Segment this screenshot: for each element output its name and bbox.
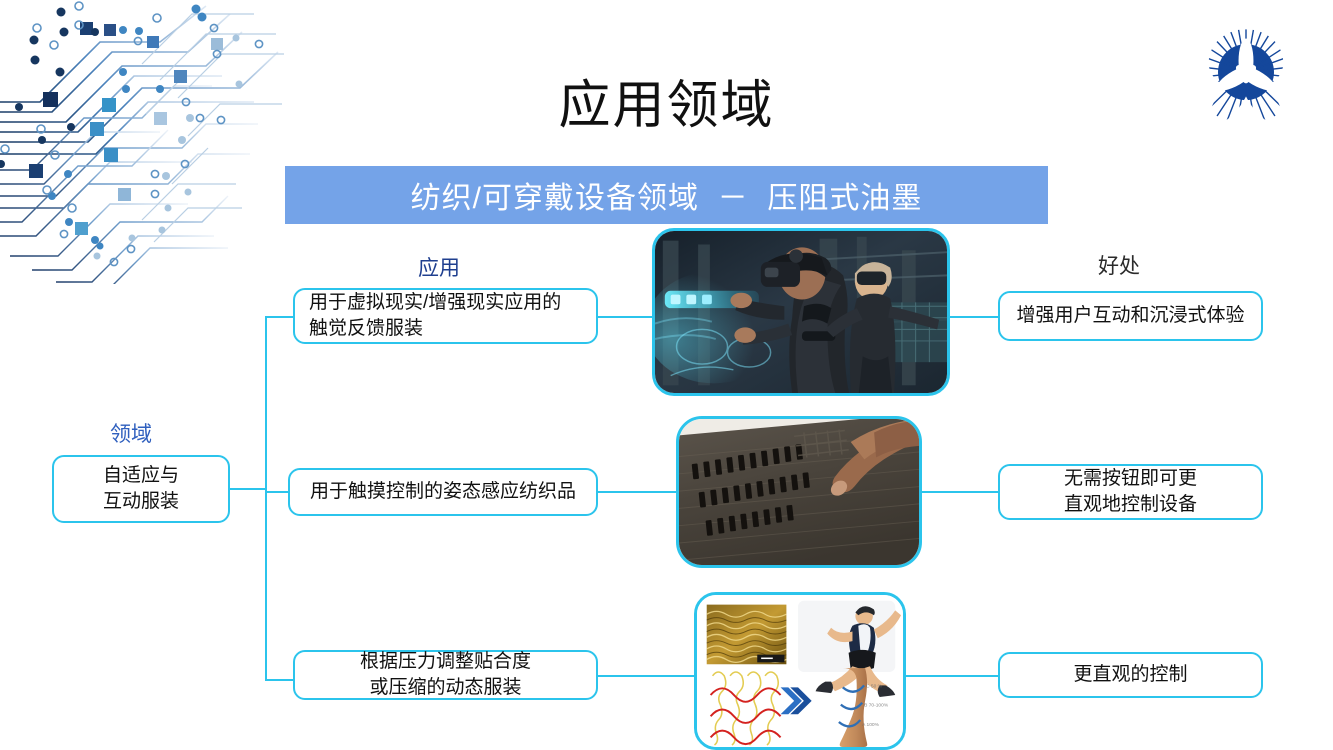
connector-bracket-to-app3	[265, 679, 295, 681]
connector-app2-to-image2	[598, 491, 678, 493]
image-vr-haptic-suit	[652, 228, 950, 396]
benefit-node-2-label: 无需按钮即可更 直观地控制设备	[1008, 466, 1253, 518]
connector-bracket-to-app2	[265, 491, 290, 493]
connector-root-to-bracket	[230, 488, 266, 490]
connector-image1-to-benefit1	[948, 316, 1000, 318]
page-title: 应用领域	[0, 78, 1333, 135]
benefit-node-2[interactable]: 无需按钮即可更 直观地控制设备	[998, 464, 1263, 520]
connector-bracket-to-app1	[265, 316, 295, 318]
benefit-node-1[interactable]: 增强用户互动和沉浸式体验	[998, 291, 1263, 341]
connector-image2-to-benefit2	[920, 491, 1000, 493]
section-banner-label: 纺织/可穿戴设备领域 － 压阻式油墨	[411, 173, 923, 217]
connector-image3-to-benefit3	[904, 675, 1000, 677]
root-node-label: 自适应与 互动服装	[54, 463, 228, 515]
slide-canvas: 应用领域 纺织/可穿戴设备领域 － 压阻式油墨 领域 应用 好处 自适应与 互动…	[0, 0, 1333, 750]
application-node-3[interactable]: 根据压力调整贴合度 或压缩的动态服装	[293, 650, 598, 700]
image-touch-sensitive-textile	[676, 416, 922, 568]
connector-bracket-vertical	[265, 316, 267, 680]
image-compression-knit-diagram: C 50 % B 70-100% A 100%	[694, 592, 906, 750]
svg-text:B 70-100%: B 70-100%	[864, 703, 889, 709]
benefit-node-3-label: 更直观的控制	[1008, 662, 1253, 688]
svg-text:A 100%: A 100%	[862, 722, 879, 728]
connector-app3-to-image3	[598, 675, 696, 677]
root-node-adaptive-clothing[interactable]: 自适应与 互动服装	[52, 455, 230, 523]
column-header-domain: 领域	[110, 418, 152, 448]
section-banner: 纺织/可穿戴设备领域 － 压阻式油墨	[285, 166, 1048, 224]
application-node-1-label: 用于虚拟现实/增强现实应用的 触觉反馈服装	[309, 290, 596, 342]
application-node-3-label: 根据压力调整贴合度 或压缩的动态服装	[303, 649, 588, 701]
circuit-board-decoration-icon	[0, 0, 292, 284]
benefit-node-1-label: 增强用户互动和沉浸式体验	[1008, 303, 1253, 329]
column-header-benefits: 好处	[1098, 250, 1140, 280]
svg-text:C 50 %: C 50 %	[866, 683, 883, 689]
connector-app1-to-image1	[598, 316, 654, 318]
application-node-2-label: 用于触摸控制的姿态感应纺织品	[298, 479, 588, 505]
application-node-1[interactable]: 用于虚拟现实/增强现实应用的 触觉反馈服装	[293, 288, 598, 344]
column-header-applications: 应用	[418, 252, 460, 282]
benefit-node-3[interactable]: 更直观的控制	[998, 652, 1263, 698]
application-node-2[interactable]: 用于触摸控制的姿态感应纺织品	[288, 468, 598, 516]
